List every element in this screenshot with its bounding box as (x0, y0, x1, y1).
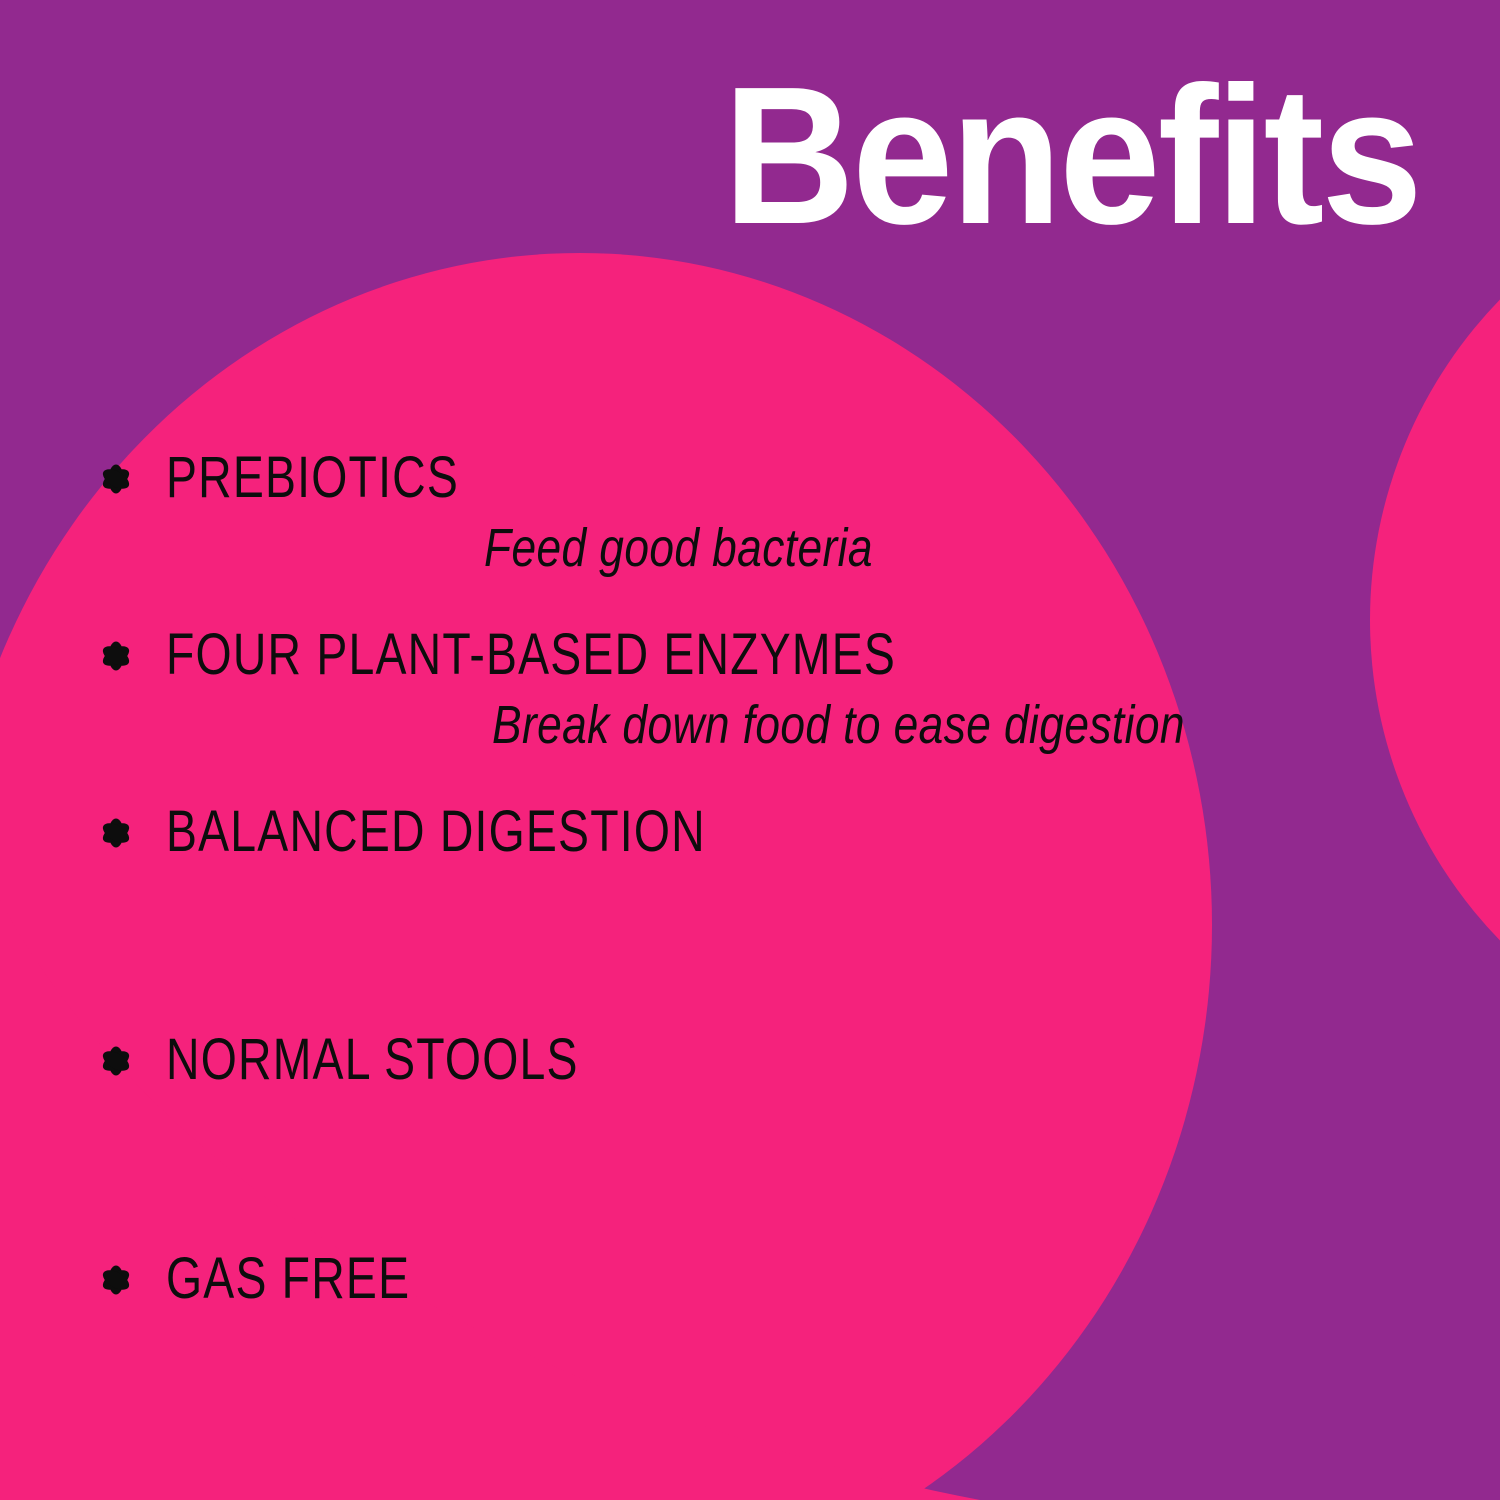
benefit-heading-row: GAS FREE (92, 1249, 1432, 1309)
six-petal-flower-asterisk-icon (92, 1037, 140, 1085)
benefit-heading-row: PREBIOTICS (92, 448, 1432, 508)
list-item: BALANCED DIGESTION (92, 802, 1432, 862)
benefits-list: PREBIOTICS Feed good bacteria FOUR PLANT… (92, 448, 1432, 1309)
benefit-title: GAS FREE (166, 1249, 410, 1309)
six-petal-flower-asterisk-icon (92, 632, 140, 680)
six-petal-flower-asterisk-icon (92, 809, 140, 857)
benefit-heading-row: FOUR PLANT-BASED ENZYMES (92, 625, 1432, 685)
benefit-subtitle: Feed good bacteria (484, 520, 1261, 577)
benefit-title: NORMAL STOOLS (166, 1030, 579, 1090)
benefit-heading-row: BALANCED DIGESTION (92, 802, 1432, 862)
page-title: Benefits (99, 58, 1420, 254)
six-petal-flower-asterisk-icon (92, 455, 140, 503)
list-item: PREBIOTICS Feed good bacteria (92, 448, 1432, 577)
six-petal-flower-asterisk-icon (92, 1256, 140, 1304)
list-item: NORMAL STOOLS (92, 1030, 1432, 1090)
benefit-heading-row: NORMAL STOOLS (92, 1030, 1432, 1090)
benefit-title: BALANCED DIGESTION (166, 802, 706, 862)
list-item: FOUR PLANT-BASED ENZYMES Break down food… (92, 625, 1432, 754)
list-item: GAS FREE (92, 1249, 1432, 1309)
benefits-infographic-panel: Benefits PREBIOTICS Feed good bacteria (0, 0, 1500, 1500)
benefit-subtitle: Break down food to ease digestion (492, 697, 1263, 754)
benefit-title: PREBIOTICS (166, 448, 459, 508)
benefit-title: FOUR PLANT-BASED ENZYMES (166, 625, 896, 685)
